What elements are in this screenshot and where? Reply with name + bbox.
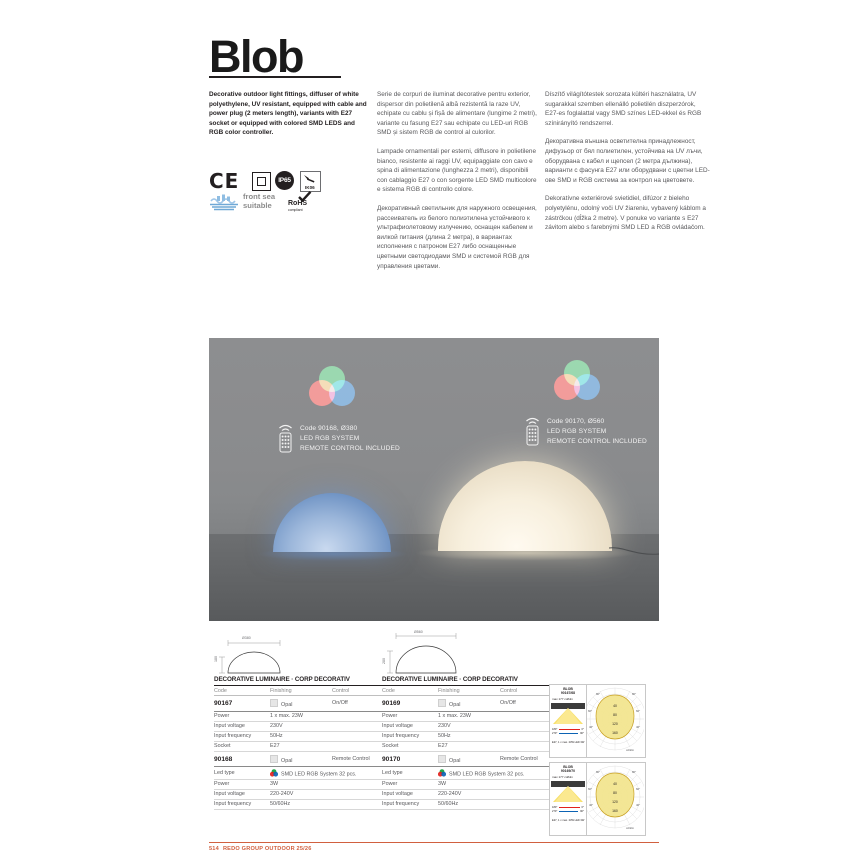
- table-header-row: Code Finishing Control: [214, 686, 382, 695]
- light-cone-diagram: [551, 781, 585, 803]
- polar-diagram: 40 80 120 160 80° 80° 60° 60° 40° 40° cd…: [586, 685, 644, 757]
- ring-label: 120: [612, 722, 618, 726]
- product-control: On/Off: [500, 695, 550, 711]
- page-title-wrap: Blob: [209, 32, 344, 82]
- unit-label: cd/klm: [626, 748, 635, 752]
- spec-value: 50Hz: [270, 731, 382, 741]
- footer-text: REDO GROUP OUTDOOR 25/26: [223, 846, 312, 852]
- header-finishing: Finishing: [438, 686, 500, 695]
- legend-right-label: 0°: [582, 728, 584, 731]
- legend-right-label: 0°: [582, 806, 584, 809]
- legend-bar-red: [559, 729, 579, 730]
- rgb-blue-circle: [574, 374, 600, 400]
- spec-label: Power: [214, 711, 270, 721]
- header-control: Control: [332, 686, 382, 695]
- angle-label: 60°: [588, 787, 592, 791]
- spec-title: DECORATIVE LUMINAIRE · CORP DECORATIV: [382, 676, 550, 686]
- remote-control-icon-left: [277, 423, 294, 453]
- spec-value: 1 x max. 23W: [438, 711, 550, 721]
- angle-label: 80°: [632, 770, 636, 774]
- dimension-drawing-left: [214, 634, 304, 680]
- legend-right-label: 90°: [580, 732, 584, 735]
- product-finishing: Opal: [270, 695, 332, 711]
- photometric-block-1: BLOB90167/68 max 177 cd/klm 180° 0° 270°: [549, 684, 646, 758]
- table-row: SocketE27: [214, 741, 382, 751]
- spec-value: 1 x max. 23W: [270, 711, 382, 721]
- spec-value: 50/60Hz: [270, 799, 382, 809]
- spec-label: Input frequency: [382, 731, 438, 741]
- rgb-icon: [270, 769, 278, 777]
- table-row: Led type SMD LED RGB System 32 pcs.: [214, 767, 382, 779]
- footer-divider: [209, 842, 659, 843]
- unit-label: cd/klm: [626, 826, 635, 830]
- spec-value: 230V: [270, 721, 382, 731]
- table-header-row: Code Finishing Control: [382, 686, 550, 695]
- spec-label: Input voltage: [214, 721, 270, 731]
- product-code: 90167: [214, 695, 270, 711]
- table-row: Input frequency50/60Hz: [214, 799, 382, 809]
- photometric-footer: E27, 1 x max. 23W LED 3W: [552, 741, 584, 745]
- catalog-page: Blob Decorative outdoor light fittings, …: [0, 0, 868, 868]
- intro-paragraph: Díszítő világítótestek sorozata kültéri …: [545, 90, 710, 128]
- rgb-color-mix-icon-left: [309, 366, 355, 408]
- dimension-width-label-left: Ø380: [242, 636, 251, 640]
- spec-value: 220-240V: [270, 789, 382, 799]
- table-row: SocketE27: [382, 741, 550, 751]
- table-row: Input frequency50Hz: [382, 731, 550, 741]
- photometric-info-panel: BLOB90167/68 max 177 cd/klm 180° 0° 270°: [550, 685, 587, 757]
- page-title: Blob: [209, 32, 344, 82]
- spec-label: Led type: [214, 767, 270, 779]
- product-finishing: Opal: [270, 751, 332, 767]
- intro-column-middle: Serie de corpuri de iluminat decorative …: [377, 90, 537, 280]
- spec-label: Socket: [214, 741, 270, 751]
- rohs-label: RoHS: [288, 200, 307, 207]
- table-row: Input voltage230V: [382, 721, 550, 731]
- table-row: Led type SMD LED RGB System 32 pcs.: [382, 767, 550, 779]
- spec-value: 3W: [270, 779, 382, 789]
- legend-left-label: 180°: [552, 728, 557, 731]
- photometric-block-2: BLOB90169/70 max 177 cd/klm 180° 0° 270°: [549, 762, 646, 836]
- spec-value: E27: [438, 741, 550, 751]
- callout-remote: REMOTE CONTROL INCLUDED: [300, 444, 400, 454]
- legend-right-label: 90°: [580, 810, 584, 813]
- product-finishing: Opal: [438, 751, 500, 767]
- product-control: Remote Control: [500, 751, 550, 767]
- angle-label: 60°: [588, 709, 592, 713]
- legend-left-label: 180°: [552, 806, 557, 809]
- product-code: 90170: [382, 751, 438, 767]
- spec-value: 3W: [438, 779, 550, 789]
- spec-label: Power: [382, 779, 438, 789]
- angle-label: 40°: [589, 725, 593, 729]
- table-row: Input voltage230V: [214, 721, 382, 731]
- dimension-drawing-right: [382, 628, 487, 680]
- power-cable: [609, 544, 659, 562]
- spec-value: SMD LED RGB System 32 pcs.: [438, 767, 550, 779]
- spec-table: Code Finishing Control 90167 Opal On/Off…: [214, 686, 382, 810]
- rohs-sublabel: compliant: [288, 208, 303, 212]
- table-row: 90170 Opal Remote Control: [382, 751, 550, 767]
- table-row: 90167 Opal On/Off: [214, 695, 382, 711]
- table-row: Power3W: [214, 779, 382, 789]
- photometric-max: max 177 cd/klm: [552, 775, 584, 779]
- front-sea-icon: [209, 194, 241, 211]
- polar-curve-svg: 40 80 120 160 80° 80° 60° 60° 40° 40° cd…: [586, 685, 644, 757]
- light-cone-diagram: [551, 703, 585, 725]
- angle-label: 60°: [636, 787, 640, 791]
- callout-code: Code 90168, Ø380: [300, 424, 400, 434]
- spec-label: Input frequency: [214, 799, 270, 809]
- polar-curve-svg: 40 80 120 160 80° 80° 60° 60° 40° 40° cd…: [586, 763, 644, 835]
- table-row: Power3W: [382, 779, 550, 789]
- header-code: Code: [214, 686, 270, 695]
- rgb-blue-circle: [329, 380, 355, 406]
- table-row: 90168 Opal Remote Control: [214, 751, 382, 767]
- intro-column-right: Díszítő világítótestek sorozata kültéri …: [545, 90, 710, 242]
- angle-label: 40°: [636, 725, 640, 729]
- ip65-icon: IP65: [275, 171, 294, 190]
- photometric-legend: 180° 0° 270° 90°: [552, 805, 584, 813]
- table-row: Input frequency50Hz: [214, 731, 382, 741]
- photometric-name: BLOB90167/68: [552, 687, 584, 695]
- front-sea-label: front sea suitable: [243, 193, 275, 210]
- photometric-legend: 180° 0° 270° 90°: [552, 727, 584, 735]
- spec-label: Input frequency: [382, 799, 438, 809]
- intro-paragraph: Декоративный светильник для наружного ос…: [377, 204, 537, 271]
- angle-label: 80°: [632, 692, 636, 696]
- spec-label: Input voltage: [382, 789, 438, 799]
- table-row: 90169 Opal On/Off: [382, 695, 550, 711]
- intro-paragraph: Dekoratívne exteriérové svietidiel, difú…: [545, 194, 710, 232]
- rgb-color-mix-icon-right: [554, 360, 600, 402]
- callout-system: LED RGB SYSTEM: [300, 434, 400, 444]
- photometric-name: BLOB90169/70: [552, 765, 584, 773]
- spec-value: 220-240V: [438, 789, 550, 799]
- spec-label: Input voltage: [382, 721, 438, 731]
- dimension-height-label-right: 280: [382, 658, 386, 664]
- dimension-width-label-right: Ø560: [414, 630, 423, 634]
- product-control: On/Off: [332, 695, 382, 711]
- legend-bar-red: [559, 807, 579, 808]
- product-control: Remote Control: [332, 751, 382, 767]
- page-number: 514: [209, 846, 219, 852]
- legend-row: 270° 90°: [552, 731, 584, 735]
- legend-bar-blue: [559, 811, 578, 812]
- opal-swatch-icon: [438, 755, 446, 763]
- intro-column-english: Decorative outdoor light fittings, diffu…: [209, 90, 369, 147]
- ring-label: 160: [612, 731, 618, 735]
- spec-label: Led type: [382, 767, 438, 779]
- table-row: Input voltage220-240V: [382, 789, 550, 799]
- callout-code: Code 90170, Ø560: [547, 417, 647, 427]
- table-row: Power1 x max. 23W: [214, 711, 382, 721]
- legend-left-label: 270°: [552, 810, 557, 813]
- angle-label: 80°: [596, 692, 600, 696]
- spec-label: Power: [382, 711, 438, 721]
- header-code: Code: [382, 686, 438, 695]
- opal-swatch-icon: [270, 699, 278, 707]
- callout-system: LED RGB SYSTEM: [547, 427, 647, 437]
- angle-label: 80°: [596, 770, 600, 774]
- product-code: 90168: [214, 751, 270, 767]
- angle-label: 40°: [589, 803, 593, 807]
- intro-paragraph: Lampade ornamentali per esterni, diffuso…: [377, 147, 537, 195]
- spec-value: SMD LED RGB System 32 pcs.: [270, 767, 382, 779]
- product-hero-image: Code 90168, Ø380 LED RGB SYSTEM REMOTE C…: [209, 338, 659, 621]
- class-two-icon: [252, 172, 271, 191]
- callout-remote: REMOTE CONTROL INCLUDED: [547, 437, 647, 447]
- angle-label: 40°: [636, 803, 640, 807]
- intro-paragraph: Serie de corpuri de iluminat decorative …: [377, 90, 537, 138]
- opal-swatch-icon: [270, 755, 278, 763]
- callout-right: Code 90170, Ø560 LED RGB SYSTEM REMOTE C…: [547, 417, 647, 448]
- intro-paragraph: Decorative outdoor light fittings, diffu…: [209, 90, 369, 138]
- rohs-icon: RoHS compliant: [288, 192, 316, 212]
- spec-title: DECORATIVE LUMINAIRE · CORP DECORATIV: [214, 676, 382, 686]
- ring-label: 120: [612, 800, 618, 804]
- remote-control-icon-right: [524, 416, 541, 446]
- photometric-footer: E27, 1 x max. 23W LED 3W: [552, 819, 584, 823]
- photometric-info-panel: BLOB90169/70 max 177 cd/klm 180° 0° 270°: [550, 763, 587, 835]
- spec-value: 50/60Hz: [438, 799, 550, 809]
- header-control: Control: [500, 686, 550, 695]
- spec-label: Input frequency: [214, 731, 270, 741]
- rgb-icon: [438, 769, 446, 777]
- ring-label: 40: [613, 782, 617, 786]
- spec-table: Code Finishing Control 90169 Opal On/Off…: [382, 686, 550, 810]
- polar-diagram: 40 80 120 160 80° 80° 60° 60° 40° 40° cd…: [586, 763, 644, 835]
- product-code: 90169: [382, 695, 438, 711]
- title-divider: [209, 76, 341, 78]
- spec-value: 230V: [438, 721, 550, 731]
- spec-table-right: DECORATIVE LUMINAIRE · CORP DECORATIV Co…: [382, 676, 550, 810]
- ring-label: 160: [612, 809, 618, 813]
- table-row: Power1 x max. 23W: [382, 711, 550, 721]
- angle-label: 60°: [636, 709, 640, 713]
- ik06-icon: IK06: [300, 171, 321, 192]
- table-row: Input voltage220-240V: [214, 789, 382, 799]
- callout-left: Code 90168, Ø380 LED RGB SYSTEM REMOTE C…: [300, 424, 400, 455]
- photometric-max: max 177 cd/klm: [552, 697, 584, 701]
- header-finishing: Finishing: [270, 686, 332, 695]
- spec-label: Power: [214, 779, 270, 789]
- product-finishing: Opal: [438, 695, 500, 711]
- table-row: Input frequency50/60Hz: [382, 799, 550, 809]
- front-sea-line-2: suitable: [243, 201, 272, 210]
- spec-value: E27: [270, 741, 382, 751]
- spec-label: Socket: [382, 741, 438, 751]
- certification-badges: CE IP65 IK06 front sea suitable RoHS: [209, 168, 369, 220]
- opal-swatch-icon: [438, 699, 446, 707]
- hammer-glyph: [303, 174, 316, 184]
- legend-bar-blue: [559, 733, 578, 734]
- ring-label: 80: [613, 713, 617, 717]
- legend-left-label: 270°: [552, 732, 557, 735]
- legend-row: 270° 90°: [552, 809, 584, 813]
- ring-label: 40: [613, 704, 617, 708]
- spec-table-left: DECORATIVE LUMINAIRE · CORP DECORATIV Co…: [214, 676, 382, 810]
- ik06-label: IK06: [305, 185, 315, 190]
- footer: 514REDO GROUP OUTDOOR 25/26: [209, 846, 312, 852]
- intro-paragraph: Декоративна външна осветителна принадлеж…: [545, 137, 710, 185]
- spec-label: Input voltage: [214, 789, 270, 799]
- dimension-height-label-left: 180: [214, 656, 218, 662]
- ce-mark-icon: CE: [209, 171, 239, 191]
- spec-value: 50Hz: [438, 731, 550, 741]
- ring-label: 80: [613, 791, 617, 795]
